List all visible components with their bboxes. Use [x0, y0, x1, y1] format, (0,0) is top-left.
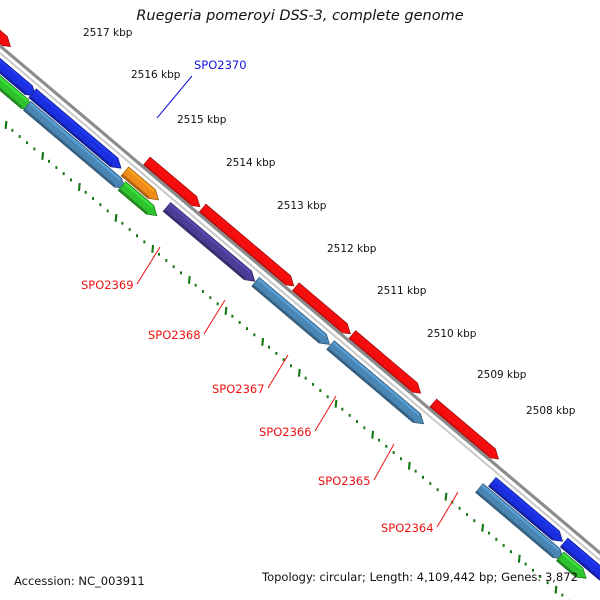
- ruler-tick-mark: [152, 245, 153, 253]
- genome-viewer[interactable]: Ruegeria pomeroyi DSS-3, complete genome…: [0, 0, 600, 600]
- ruler-tick-label: 2512 kbp: [327, 243, 377, 255]
- gene-label-SPO2370[interactable]: SPO2370: [194, 58, 247, 72]
- ruler-tick-mark: [79, 183, 80, 191]
- ruler-tick-mark: [372, 431, 373, 439]
- ruler-tick-mark: [519, 555, 520, 563]
- ruler-tick-mark: [226, 307, 227, 315]
- ruler-tick-label: 2515 kbp: [177, 114, 227, 126]
- ruler-tick-label: 2509 kbp: [477, 369, 527, 381]
- ruler-tick-mark: [116, 214, 117, 222]
- ruler-tick-mark: [6, 121, 7, 129]
- ruler-tick-mark: [482, 524, 483, 532]
- ruler-tick-mark: [42, 152, 43, 160]
- ruler-tick-mark: [262, 338, 263, 346]
- gene-label-SPO2368[interactable]: SPO2368: [148, 328, 201, 342]
- ruler-tick-mark: [299, 369, 300, 377]
- gene-label-SPO2365[interactable]: SPO2365: [318, 474, 371, 488]
- gene-label-SPO2366[interactable]: SPO2366: [259, 425, 312, 439]
- ruler-tick-label: 2516 kbp: [131, 69, 181, 81]
- accession-label: Accession: NC_003911: [14, 574, 145, 588]
- gene-label-SPO2367[interactable]: SPO2367: [212, 382, 265, 396]
- ruler-tick-label: 2514 kbp: [226, 157, 276, 169]
- ruler-tick-mark: [336, 400, 337, 408]
- ruler-tick-mark: [409, 462, 410, 470]
- genome-canvas[interactable]: Ruegeria pomeroyi DSS-3, complete genome…: [0, 0, 600, 600]
- ruler-tick-mark: [556, 586, 557, 594]
- page-title: Ruegeria pomeroyi DSS-3, complete genome: [136, 8, 463, 24]
- ruler-tick-label: 2510 kbp: [427, 328, 477, 340]
- gene-label-SPO2369[interactable]: SPO2369: [81, 278, 134, 292]
- ruler-tick-label: 2508 kbp: [526, 405, 576, 417]
- ruler-tick-label: 2513 kbp: [277, 200, 327, 212]
- gene-label-SPO2364[interactable]: SPO2364: [381, 521, 434, 535]
- ruler-tick-label: 2511 kbp: [377, 285, 427, 297]
- ruler-tick-label: 2517 kbp: [83, 27, 133, 39]
- genome-summary-label: Topology: circular; Length: 4,109,442 bp…: [261, 570, 578, 584]
- ruler-tick-mark: [446, 493, 447, 501]
- ruler-tick-mark: [189, 276, 190, 284]
